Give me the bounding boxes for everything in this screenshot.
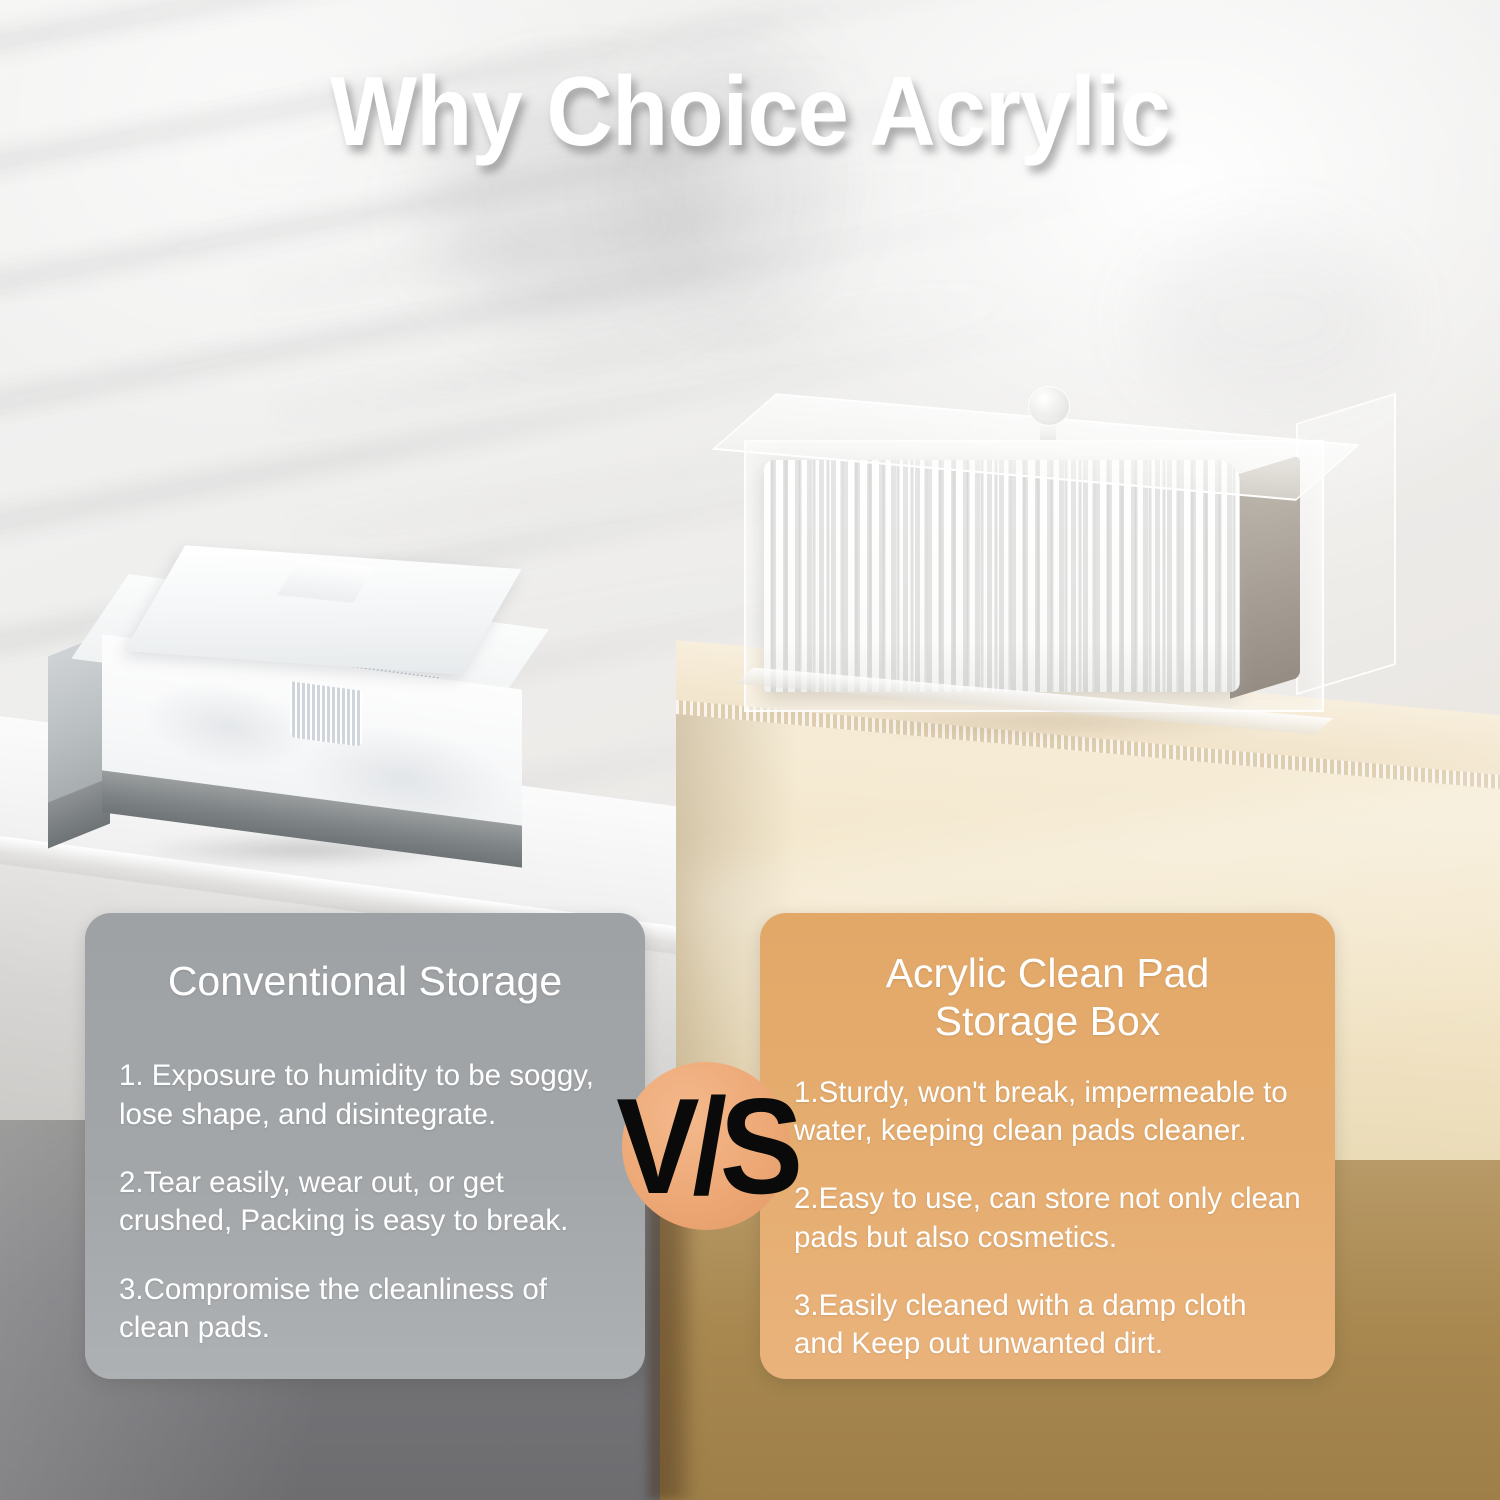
conventional-storage-bullet-list: 1. Exposure to humidity to be soggy, los…: [119, 1057, 611, 1347]
list-item: 3.Compromise the cleanliness of clean pa…: [119, 1271, 611, 1348]
acrylic-pads-stack-ribs: [764, 460, 1240, 692]
conventional-tissue-box: [40, 540, 570, 870]
conventional-storage-panel: Conventional Storage 1. Exposure to humi…: [85, 913, 645, 1379]
list-item: 3.Easily cleaned with a damp cloth and K…: [794, 1287, 1301, 1364]
acrylic-storage-box: [736, 400, 1416, 730]
tissue-box-pads: [290, 681, 362, 746]
infographic-canvas: Why Choice Acrylic Conventional Storage …: [0, 0, 1500, 1500]
soft-shadow-blob: [1140, 230, 1400, 410]
versus-badge-label: V/S: [614, 1046, 798, 1246]
acrylic-lid-knob: [1028, 386, 1070, 426]
acrylic-storage-bullet-list: 1.Sturdy, won't break, impermeable to wa…: [794, 1074, 1301, 1364]
conventional-storage-heading: Conventional Storage: [119, 913, 611, 1005]
acrylic-storage-heading: Acrylic Clean Pad Storage Box: [794, 913, 1301, 1046]
list-item: 2.Tear easily, wear out, or get crushed,…: [119, 1164, 611, 1241]
list-item: 1. Exposure to humidity to be soggy, los…: [119, 1057, 611, 1134]
page-title: Why Choice Acrylic: [45, 62, 1455, 160]
versus-badge: V/S: [622, 1062, 790, 1230]
list-item: 1.Sturdy, won't break, impermeable to wa…: [794, 1074, 1301, 1151]
acrylic-storage-panel: Acrylic Clean Pad Storage Box 1.Sturdy, …: [760, 913, 1335, 1379]
list-item: 2.Easy to use, can store not only clean …: [794, 1180, 1301, 1257]
